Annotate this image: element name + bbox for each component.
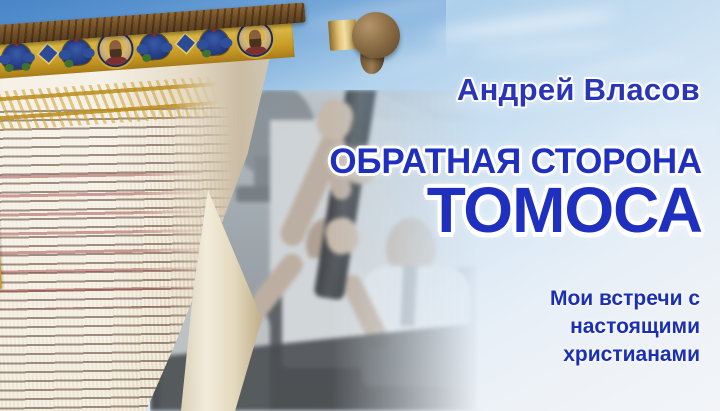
blue-floral-ornament [198,28,230,56]
subtitle: Мои встречи с настоящими христианами [0,285,700,369]
scroll-rod-knob [352,12,400,58]
blue-floral-ornament [1,42,33,70]
poster-image: ✝ [0,0,720,411]
petal [220,38,233,49]
saint-robe [244,46,269,56]
title-line-2: ТОМОСА [0,178,702,242]
diamond-ornament [177,34,195,52]
christ-robe [104,56,129,66]
petal [82,48,95,59]
leaf [202,49,212,58]
leaf [142,54,152,63]
leaf [4,64,14,73]
diamond-ornament [39,44,57,62]
subtitle-line-2: настоящими [0,313,700,341]
petal [23,52,36,63]
subtitle-line-3: христианами [0,341,700,369]
author-name: Андрей Власов [0,72,700,108]
blue-floral-ornament [138,32,170,60]
subtitle-line-1: Мои встречи с [0,285,700,313]
blue-floral-ornament [61,38,93,66]
leaf [21,62,31,71]
petal [160,42,173,53]
leaf [64,59,74,68]
